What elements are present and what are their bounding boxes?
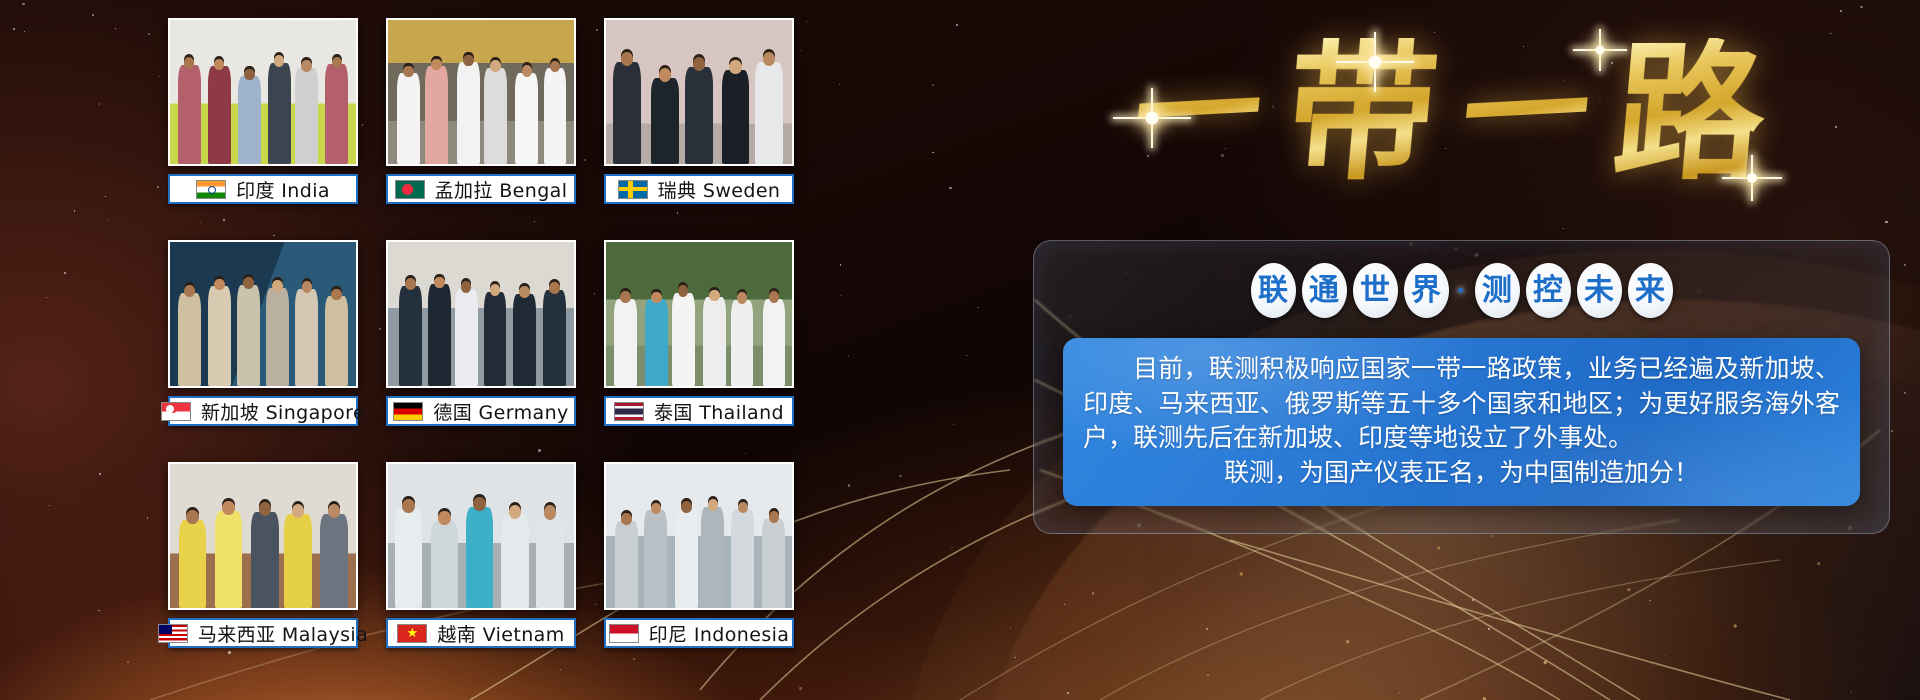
person-head <box>549 282 560 294</box>
person-figure <box>613 62 640 164</box>
country-label-text: 德国 Germany <box>433 398 568 425</box>
person-figure <box>722 70 749 164</box>
person-figure <box>645 299 668 386</box>
person-figure <box>755 62 782 164</box>
slogan-char-badge: 未 <box>1577 263 1622 318</box>
person-figure <box>399 286 422 386</box>
indonesia-flag <box>609 624 639 643</box>
person-figure <box>251 512 278 608</box>
country-label[interactable]: 瑞典 Sweden <box>604 174 794 204</box>
person-head <box>222 501 235 515</box>
country-photo-grid: 印度 India孟加拉 Bengal瑞典 Sweden新加坡 Singapore… <box>168 18 936 683</box>
calligraphy-char-2: 带 <box>1280 38 1443 188</box>
person-figure <box>397 73 420 164</box>
person-figure <box>268 63 291 164</box>
country-label-text: 马来西亚 Malaysia <box>198 620 368 647</box>
country-label-text: 瑞典 Sweden <box>658 176 781 203</box>
person-figure <box>672 293 695 386</box>
person-figure <box>536 516 563 608</box>
person-head <box>769 511 780 523</box>
vietnam-flag <box>397 624 427 643</box>
country-photo[interactable] <box>168 462 358 610</box>
person-figure <box>543 290 566 386</box>
sweden-flag <box>618 180 648 199</box>
person-head <box>438 511 451 525</box>
country-label[interactable]: 泰国 Thailand <box>604 396 794 426</box>
slogan-char-badge: 世 <box>1353 263 1398 318</box>
slogan-char: 世 <box>1360 276 1390 306</box>
person-head <box>405 278 416 290</box>
country-photo[interactable] <box>604 462 794 610</box>
slogan-char-badge: 通 <box>1302 263 1347 318</box>
person-figure <box>731 300 754 386</box>
person-figure <box>215 511 242 608</box>
country-label-text: 印度 India <box>236 176 330 203</box>
country-photo[interactable] <box>168 240 358 388</box>
person-figure <box>513 294 536 386</box>
person-head <box>186 510 199 524</box>
slogan-char-badge: 界 <box>1404 263 1449 318</box>
person-figure <box>178 293 201 386</box>
person-figure <box>484 292 507 386</box>
person-figure <box>703 297 726 386</box>
person-head <box>272 280 283 292</box>
person-figure <box>675 509 698 608</box>
slogan-char-badge: 测 <box>1475 263 1520 318</box>
country-label[interactable]: 新加坡 Singapore <box>168 396 358 426</box>
person-head <box>737 292 748 304</box>
person-figure <box>325 64 348 164</box>
person-figure <box>425 66 448 164</box>
slogan-char: 通 <box>1309 276 1339 306</box>
person-figure <box>501 515 528 608</box>
person-head <box>244 69 255 81</box>
country-label[interactable]: 德国 Germany <box>386 396 576 426</box>
country-photo[interactable] <box>386 18 576 166</box>
person-head <box>184 57 195 69</box>
person-head <box>473 497 486 511</box>
slogan-char: 测 <box>1482 276 1512 306</box>
slogan-char: 联 <box>1258 276 1288 306</box>
info-panel: 联通世界·测控未来 目前，联测积极响应国家一带一路政策，业务已经遍及新加坡、印度… <box>1033 240 1890 534</box>
slogan-char-badge: 来 <box>1628 263 1673 318</box>
slogan-separator-dot: · <box>1455 274 1469 308</box>
country-photo[interactable] <box>604 18 794 166</box>
person-head <box>274 55 285 67</box>
country-label-text: 泰国 Thailand <box>654 398 784 425</box>
gallery-cell[interactable]: 德国 Germany <box>386 240 576 430</box>
person-figure <box>284 514 311 608</box>
country-photo[interactable] <box>386 240 576 388</box>
gallery-cell[interactable]: 新加坡 Singapore <box>168 240 358 430</box>
person-head <box>708 499 719 511</box>
person-figure <box>763 299 786 386</box>
person-figure <box>544 68 567 164</box>
person-head <box>620 291 631 303</box>
person-figure <box>615 521 638 609</box>
person-head <box>463 55 474 67</box>
person-head <box>519 286 530 298</box>
gallery-cell[interactable]: 孟加拉 Bengal <box>386 18 576 208</box>
person-head <box>403 66 414 78</box>
person-figure <box>179 520 206 608</box>
person-figure <box>178 65 201 164</box>
slogan-char-badge: 联 <box>1251 263 1296 318</box>
person-figure <box>266 288 289 386</box>
person-figure <box>685 67 712 164</box>
person-head <box>490 60 501 72</box>
person-head <box>769 291 780 303</box>
gallery-cell[interactable]: 瑞典 Sweden <box>604 18 794 208</box>
description-box: 目前，联测积极响应国家一带一路政策，业务已经遍及新加坡、印度、马来西亚、俄罗斯等… <box>1063 338 1860 506</box>
person-figure <box>238 76 261 164</box>
person-figure <box>237 285 260 386</box>
bengal-flag <box>395 180 425 199</box>
slogan-char: 来 <box>1635 276 1665 306</box>
person-figure <box>395 509 422 608</box>
gallery-cell[interactable]: 泰国 Thailand <box>604 240 794 430</box>
slogan-char: 界 <box>1411 276 1441 306</box>
india-flag <box>196 180 226 199</box>
person-figure <box>208 286 231 386</box>
malaysia-flag <box>158 624 188 643</box>
person-figure <box>320 514 347 608</box>
person-figure <box>762 519 785 608</box>
calligraphy-char-3: 一 <box>1456 47 1596 179</box>
gallery-cell[interactable]: 印度 India <box>168 18 358 208</box>
person-figure <box>701 507 724 608</box>
person-head <box>544 505 557 519</box>
banner-stage: 一 带 一 路 印度 India孟加拉 Bengal瑞典 Sweden新加坡 S… <box>0 0 1920 700</box>
description-paragraph-2: 联测，为国产仪表正名，为中国制造加分！ <box>1083 456 1840 491</box>
person-head <box>431 59 442 71</box>
person-figure <box>455 289 478 386</box>
country-label[interactable]: 马来西亚 Malaysia <box>168 618 358 648</box>
country-label[interactable]: 孟加拉 Bengal <box>386 174 576 204</box>
person-figure <box>428 284 451 386</box>
country-label-text: 新加坡 Singapore <box>201 398 365 425</box>
country-label-text: 越南 Vietnam <box>437 620 564 647</box>
person-figure <box>295 289 318 386</box>
person-head <box>184 285 195 297</box>
germany-flag <box>393 402 423 421</box>
person-head <box>621 513 632 525</box>
gallery-cell[interactable]: 马来西亚 Malaysia <box>168 462 358 652</box>
country-photo[interactable] <box>386 462 576 610</box>
person-head <box>693 57 706 71</box>
calligraphy-char-1: 一 <box>1128 47 1268 179</box>
person-figure <box>466 507 493 608</box>
country-label-text: 孟加拉 Bengal <box>435 176 568 203</box>
calligraphy-title: 一 带 一 路 <box>1010 8 1890 218</box>
country-label[interactable]: 印尼 Indonesia <box>604 618 794 648</box>
person-head <box>461 281 472 293</box>
person-figure <box>731 509 754 608</box>
person-head <box>402 499 415 513</box>
person-figure <box>651 78 678 164</box>
person-figure <box>614 299 637 386</box>
country-label[interactable]: 越南 Vietnam <box>386 618 576 648</box>
person-figure <box>431 521 458 608</box>
person-figure <box>457 62 480 164</box>
singapore-flag <box>161 402 191 421</box>
description-paragraph-1: 目前，联测积极响应国家一带一路政策，业务已经遍及新加坡、印度、马来西亚、俄罗斯等… <box>1083 352 1840 456</box>
calligraphy-char-4: 路 <box>1608 38 1771 188</box>
person-figure <box>644 510 667 608</box>
person-head <box>331 289 342 301</box>
slogan-badges: 联通世界·测控未来 <box>1034 263 1889 318</box>
country-label[interactable]: 印度 India <box>168 174 358 204</box>
slogan-char-badge: 控 <box>1526 263 1571 318</box>
person-figure <box>515 73 538 164</box>
person-head <box>681 501 692 513</box>
person-figure <box>208 66 231 164</box>
country-photo[interactable] <box>604 240 794 388</box>
person-head <box>301 60 312 72</box>
person-head <box>729 60 742 74</box>
person-figure <box>325 296 348 386</box>
gallery-cell[interactable]: 越南 Vietnam <box>386 462 576 652</box>
person-figure <box>295 68 318 164</box>
slogan-char: 控 <box>1533 276 1563 306</box>
person-head <box>214 279 225 291</box>
thailand-flag <box>614 402 644 421</box>
person-head <box>302 281 313 293</box>
person-figure <box>484 68 507 164</box>
person-head <box>651 292 662 304</box>
gallery-cell[interactable]: 印尼 Indonesia <box>604 462 794 652</box>
country-photo[interactable] <box>168 18 358 166</box>
country-label-text: 印尼 Indonesia <box>649 620 790 647</box>
person-head <box>243 277 254 289</box>
slogan-char: 未 <box>1584 276 1614 306</box>
